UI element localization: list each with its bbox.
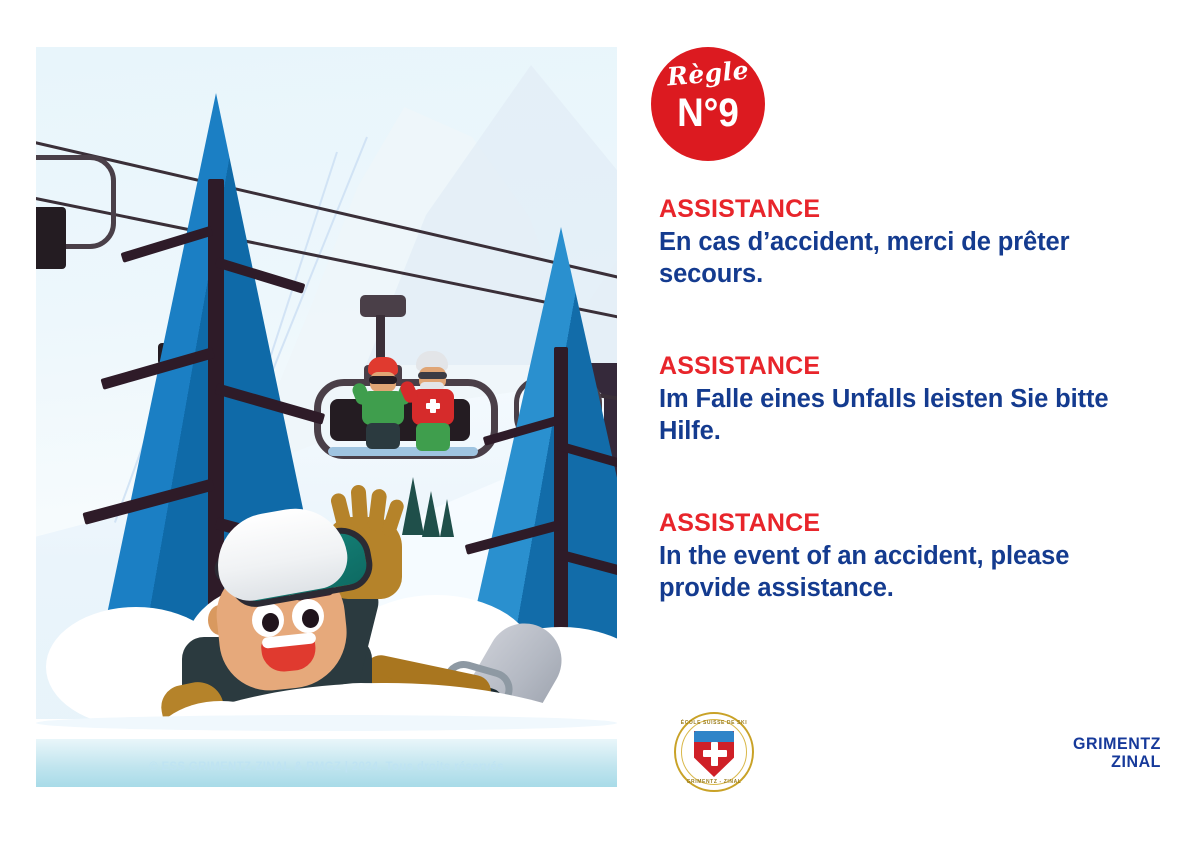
pupil: [262, 613, 279, 632]
rule-badge: Règle N°9: [651, 47, 765, 161]
resort-logo-line1: GRIMENTZ: [1020, 735, 1161, 753]
rule-body-de: Im Falle eines Unfalls leisten Sie bitte…: [659, 383, 1159, 448]
rule-body-en: In the event of an accident, please prov…: [659, 540, 1159, 605]
content-column: Règle N°9 ASSISTANCE En cas d’accident, …: [651, 47, 1161, 787]
snow-shadow-line: [36, 715, 617, 731]
swiss-cross-icon: [703, 750, 727, 757]
rule-block-en: ASSISTANCE In the event of an accident, …: [659, 509, 1159, 605]
shield-blue-band: [694, 731, 734, 742]
illustration-footer-band: © ESS GRIMENTZ-ZINAL & RMGZ | 2024. Tous…: [36, 739, 617, 787]
rule-badge-number: N°9: [656, 93, 761, 133]
logo-bottom-text: GRIMENTZ - ZINAL: [674, 779, 754, 785]
glove-finger: [350, 485, 368, 530]
rule-body-fr: En cas d’accident, merci de prêter secou…: [659, 226, 1159, 291]
rule-heading-fr: ASSISTANCE: [659, 195, 1159, 224]
rule-heading-de: ASSISTANCE: [659, 352, 1159, 381]
rule-badge-word: Règle: [650, 56, 766, 91]
rule-heading-en: ASSISTANCE: [659, 509, 1159, 538]
copyright-text: © ESS GRIMENTZ-ZINAL & RMGZ | 2024. Tous…: [36, 761, 617, 773]
illustration-panel: © ESS GRIMENTZ-ZINAL & RMGZ | 2024. Tous…: [36, 47, 617, 787]
ess-swiss-ski-school-logo: ÉCOLE SUISSE DE SKI GRIMENTZ - ZINAL: [674, 712, 754, 792]
pupil: [302, 609, 319, 628]
rule-block-de: ASSISTANCE Im Falle eines Unfalls leiste…: [659, 352, 1159, 448]
logo-top-text: ÉCOLE SUISSE DE SKI: [674, 720, 754, 726]
resort-logo-line2: ZINAL: [1020, 753, 1161, 771]
rule-block-fr: ASSISTANCE En cas d’accident, merci de p…: [659, 195, 1159, 291]
grimentz-zinal-logo: GRIMENTZ ZINAL: [1020, 735, 1161, 771]
poster-page: © ESS GRIMENTZ-ZINAL & RMGZ | 2024. Tous…: [0, 0, 1200, 848]
